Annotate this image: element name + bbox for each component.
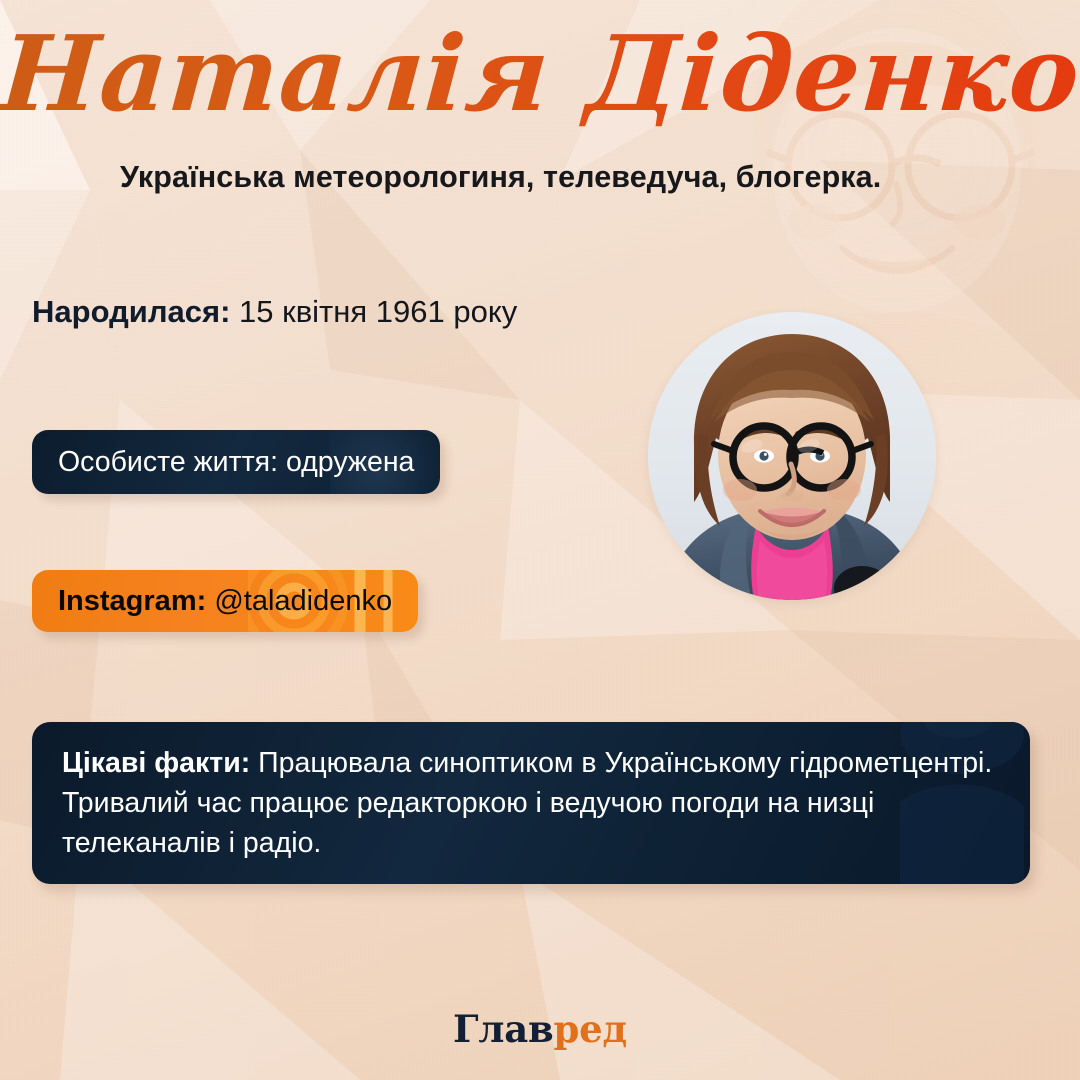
logo-part-orange: ред <box>554 1007 627 1051</box>
brand-logo[interactable]: Главред <box>0 1007 1080 1051</box>
instagram-handle: @taladidenko <box>214 585 392 617</box>
birth-line: Народилася: 15 квітня 1961 року <box>32 294 517 330</box>
facts-label: Цікаві факти: <box>62 747 250 779</box>
infographic-card: Наталія Діденко Українська метеорологиня… <box>0 0 1080 1080</box>
portrait-photo <box>648 312 936 600</box>
logo-part-dark: Глав <box>453 1007 554 1051</box>
page-title: Наталія Діденко <box>0 16 1080 132</box>
instagram-label: Instagram: <box>58 585 206 617</box>
facts-body: Цікаві факти: Працювала синоптиком в Укр… <box>62 744 1000 864</box>
birth-label: Народилася: <box>32 294 230 329</box>
page-subtitle: Українська метеорологиня, телеведуча, бл… <box>120 160 881 195</box>
instagram-badge[interactable]: Instagram: @taladidenko <box>32 570 418 632</box>
title-container: Наталія Діденко <box>0 16 1080 132</box>
birth-value: 15 квітня 1961 року <box>239 294 517 329</box>
interesting-facts-block: Цікаві факти: Працювала синоптиком в Укр… <box>32 722 1030 884</box>
personal-life-text: Особисте життя: одружена <box>58 446 414 479</box>
instagram-text: Instagram: @taladidenko <box>58 585 392 618</box>
personal-life-badge: Особисте життя: одружена <box>32 430 440 494</box>
